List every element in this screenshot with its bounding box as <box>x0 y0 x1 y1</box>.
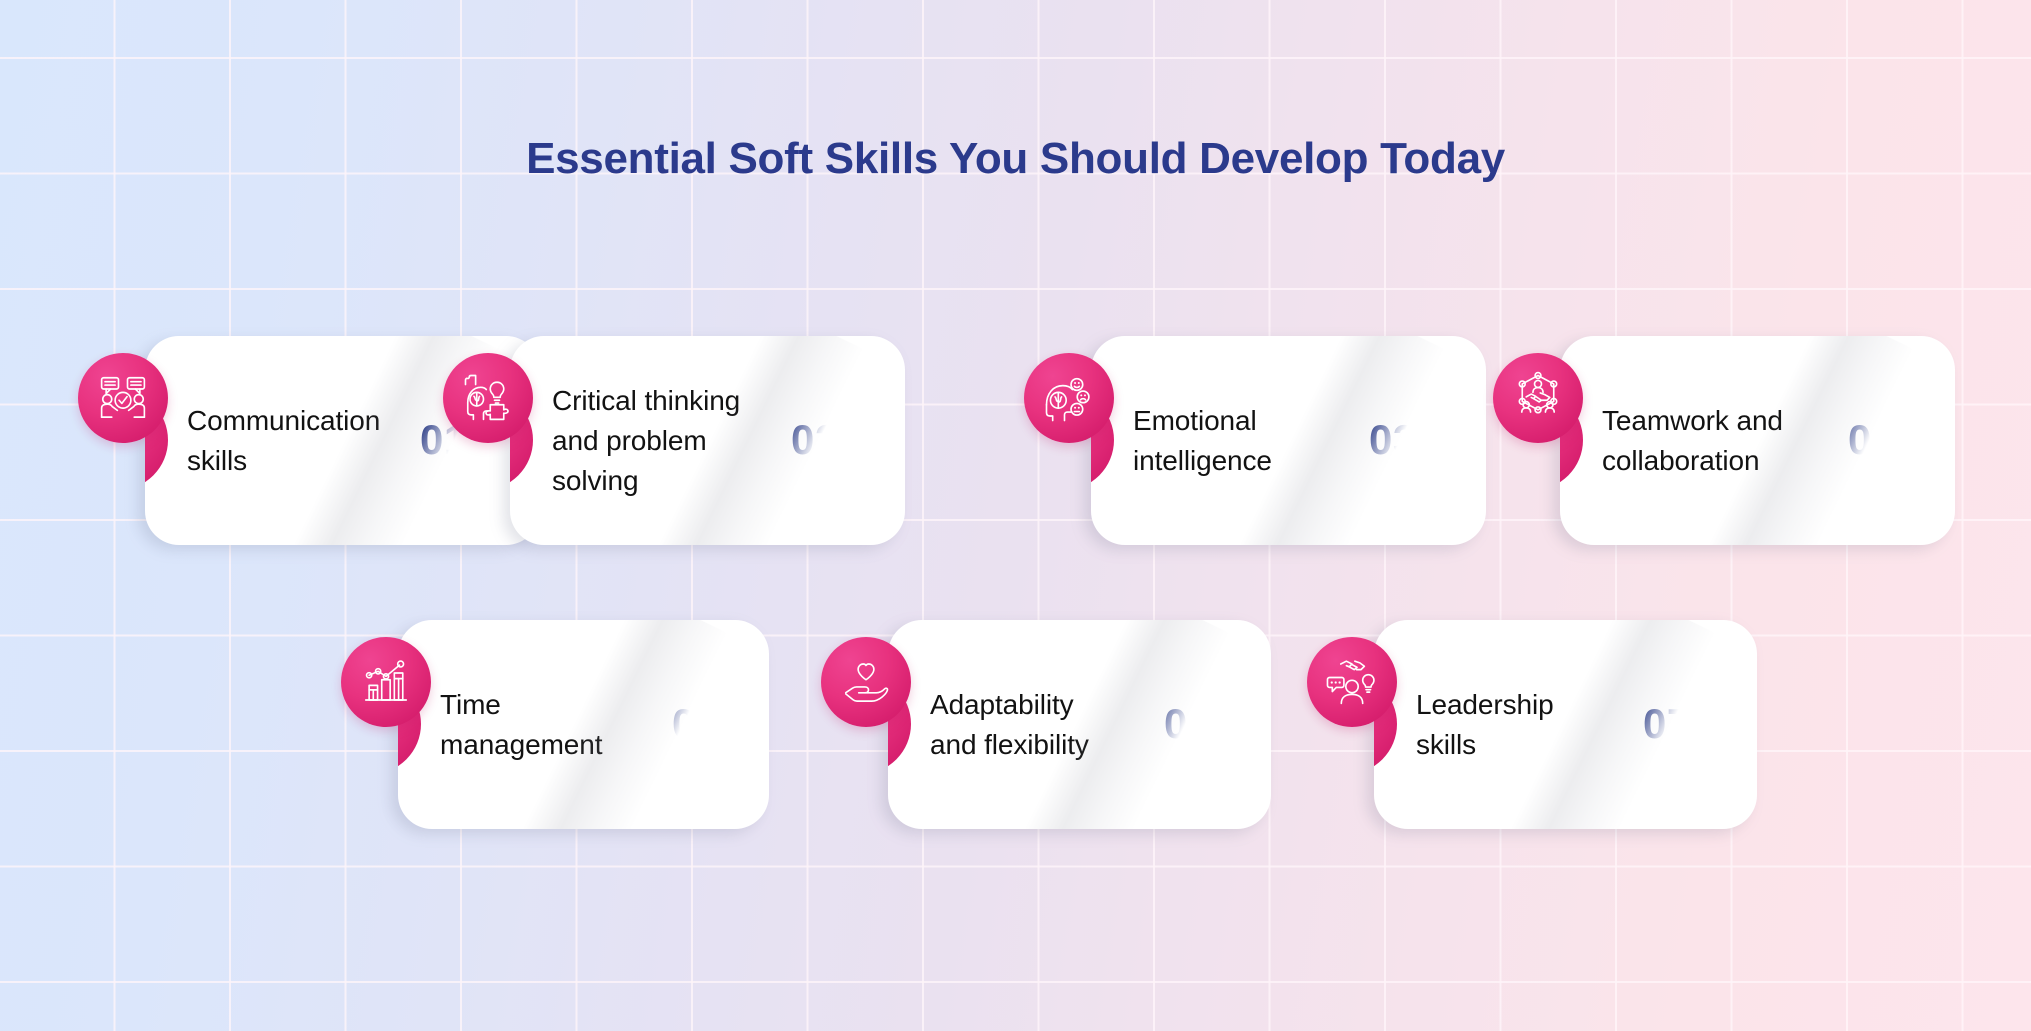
skill-icon-badge-4[interactable] <box>1493 353 1583 443</box>
skill-number-7: 07 <box>1643 700 1691 748</box>
bar-chart-trend-line-icon <box>359 655 413 709</box>
skill-card-6[interactable]: Adaptability and flexibility 06 <box>888 620 1271 829</box>
skill-number-3: 03 <box>1369 416 1417 464</box>
skill-icon-badge-1[interactable] <box>78 353 168 443</box>
skill-icon-badge-6[interactable] <box>821 637 911 727</box>
skill-card-2[interactable]: Critical thinking and problem solving 02 <box>510 336 905 545</box>
skill-icon-badge-7[interactable] <box>1307 637 1397 727</box>
page-title: Essential Soft Skills You Should Develop… <box>0 134 2031 184</box>
skill-label-1: Communication skills <box>187 401 380 481</box>
skill-card-3[interactable]: Emotional intelligence 03 <box>1091 336 1486 545</box>
person-handshake-lightbulb-speech-icon <box>1325 655 1379 709</box>
skill-number-2: 02 <box>791 416 839 464</box>
hand-holding-heart-icon <box>839 655 893 709</box>
skill-card-4[interactable]: Teamwork and collaboration 04 <box>1560 336 1955 545</box>
skill-number-4: 04 <box>1848 416 1896 464</box>
two-people-speech-bubbles-check-icon <box>96 371 150 425</box>
head-brain-puzzle-lightbulb-icon <box>461 371 515 425</box>
head-brain-emoji-faces-icon <box>1042 371 1096 425</box>
skill-label-6: Adaptability and flexibility <box>930 685 1089 765</box>
skill-icon-badge-3[interactable] <box>1024 353 1114 443</box>
skill-number-5: 05 <box>672 700 720 748</box>
skill-label-3: Emotional intelligence <box>1133 401 1272 481</box>
skill-icon-badge-2[interactable] <box>443 353 533 443</box>
skill-label-4: Teamwork and collaboration <box>1602 401 1783 481</box>
skill-label-5: Time management <box>440 685 602 765</box>
skill-card-7[interactable]: Leadership skills 07 <box>1374 620 1757 829</box>
skill-label-7: Leadership skills <box>1416 685 1554 765</box>
skill-icon-badge-5[interactable] <box>341 637 431 727</box>
skill-number-6: 06 <box>1164 700 1212 748</box>
skill-card-5[interactable]: Time management 05 <box>398 620 769 829</box>
skill-label-2: Critical thinking and problem solving <box>552 381 740 501</box>
handshake-network-people-icon <box>1511 371 1565 425</box>
